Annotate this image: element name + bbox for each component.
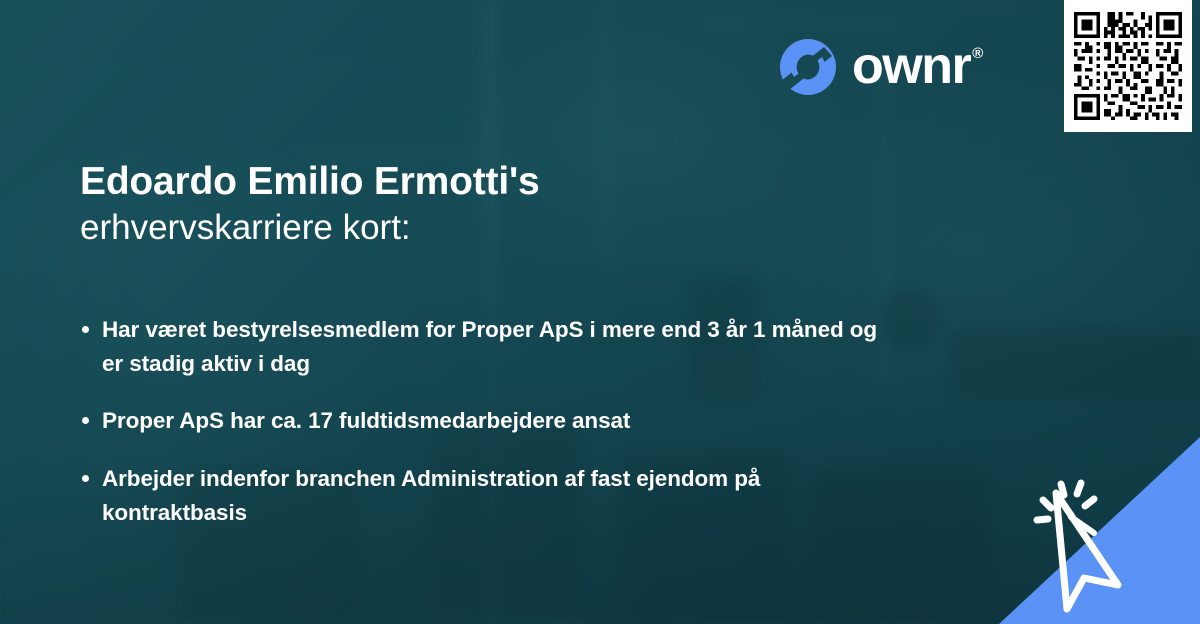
page-title: Edoardo Emilio Ermotti's erhvervskarrier…: [80, 158, 540, 250]
ownr-wordmark-text: ownr: [852, 42, 970, 91]
bullet-point-icon: [82, 475, 89, 482]
registered-trademark-icon: ®: [972, 46, 982, 61]
promo-card: ownr ®: [0, 0, 1200, 624]
bullet-point-icon: [82, 326, 89, 333]
list-item: Arbejder indenfor branchen Administratio…: [82, 462, 882, 530]
corner-accent: [999, 437, 1200, 624]
list-item-text: Har været bestyrelsesmedlem for Proper A…: [102, 313, 882, 381]
ownr-circle-swirl-icon: [778, 37, 838, 97]
ownr-logo: ownr ®: [778, 37, 982, 97]
title-line-2: erhvervskarriere kort:: [80, 206, 540, 251]
list-item-text: Proper ApS har ca. 17 fuldtidsmedarbejde…: [102, 404, 630, 438]
title-line-1: Edoardo Emilio Ermotti's: [80, 158, 540, 206]
list-item: Proper ApS har ca. 17 fuldtidsmedarbejde…: [82, 404, 882, 438]
career-summary-list: Har været bestyrelsesmedlem for Proper A…: [82, 313, 882, 553]
qr-code-icon[interactable]: [1074, 12, 1182, 120]
bullet-point-icon: [82, 417, 89, 424]
list-item: Har været bestyrelsesmedlem for Proper A…: [82, 313, 882, 381]
qr-code-panel[interactable]: [1064, 0, 1192, 132]
corner-triangle-shape: [999, 437, 1200, 624]
ownr-wordmark: ownr ®: [852, 42, 982, 91]
list-item-text: Arbejder indenfor branchen Administratio…: [102, 462, 882, 530]
